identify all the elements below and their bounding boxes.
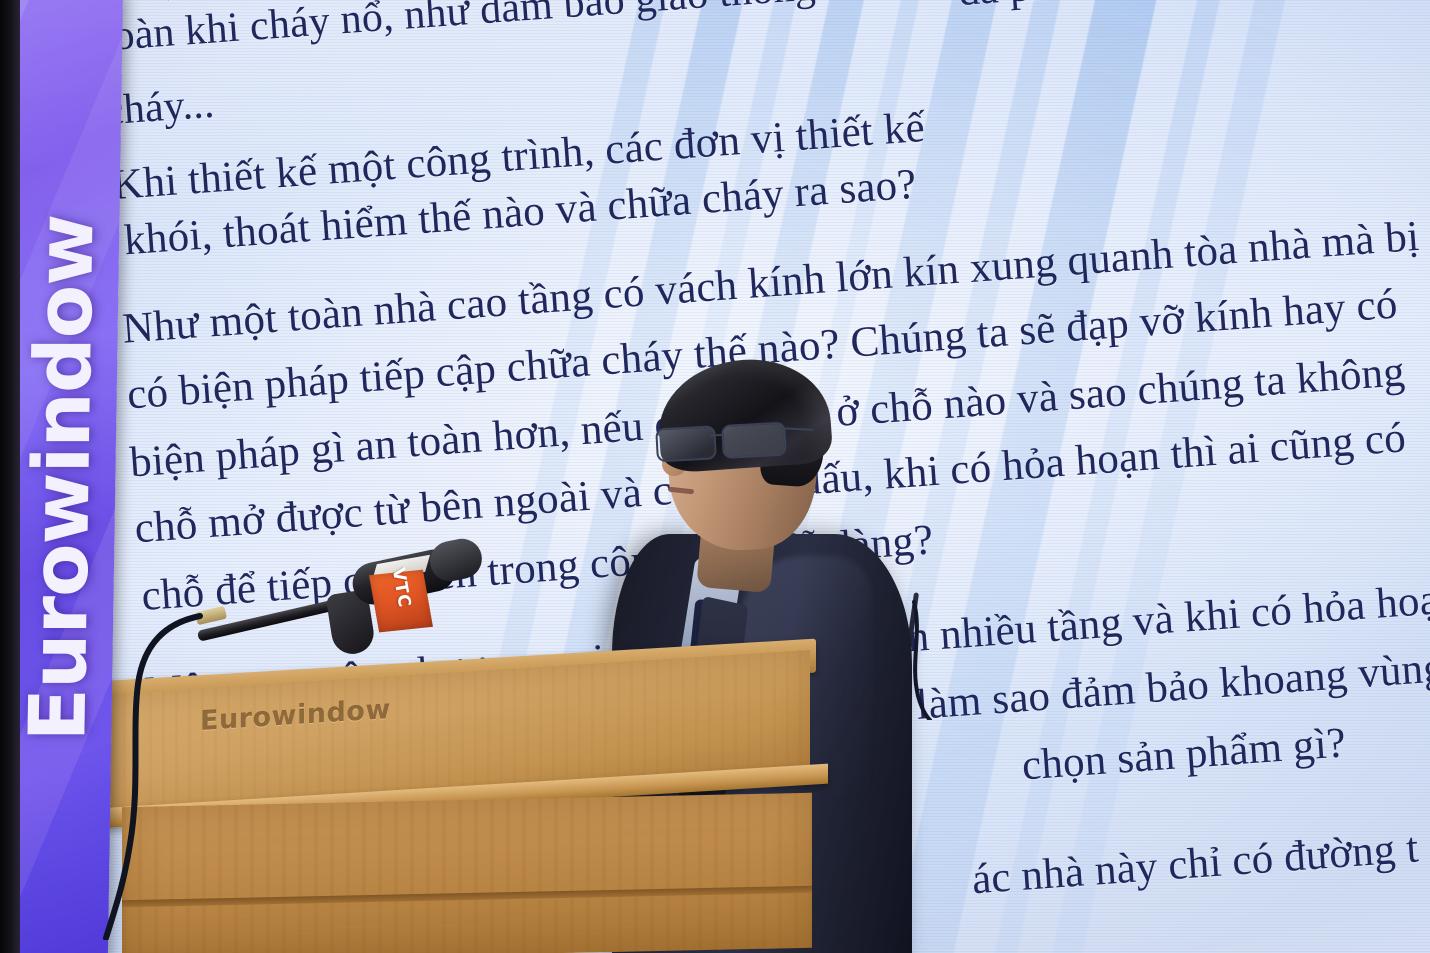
eyeglass-lens-right xyxy=(721,422,787,459)
slide-text-line: đã phải tính đến việc ngăn xyxy=(957,0,1407,16)
slide-text-line: chọn sản phẩm gì? xyxy=(1020,718,1347,790)
podium-lower-body xyxy=(122,793,812,953)
slide-text-line: toàn khi cháy nổ, như đảm bảo giao thông… xyxy=(108,0,932,61)
speaker-eyeglasses xyxy=(655,422,787,463)
slide-text-line: ác nhà này chỉ có đường t xyxy=(970,823,1420,904)
slide-text-line: cháy... xyxy=(108,80,216,136)
eyeglass-lens-left xyxy=(655,425,717,462)
secondary-microphone-cable xyxy=(900,600,980,720)
microphone-cable xyxy=(96,600,216,940)
room-left-edge xyxy=(0,0,20,953)
presentation-photo-scene: nhiệt, đảm bảo an toàn khi cháy nổ, như … xyxy=(0,0,1430,953)
